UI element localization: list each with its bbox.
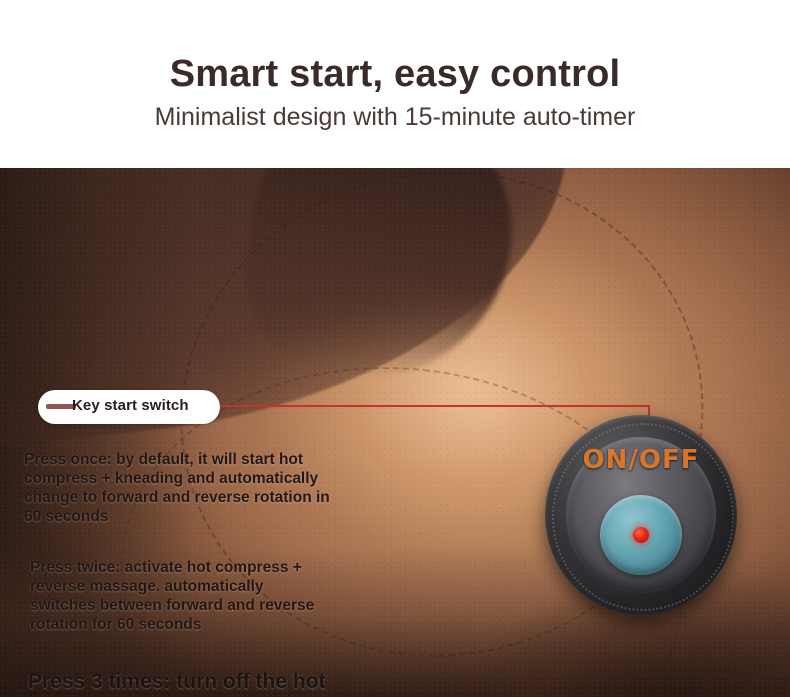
instruction-press-twice: Press twice: activate hot compress + rev… [30, 558, 330, 634]
product-infographic: Smart start, easy control Minimalist des… [0, 0, 790, 697]
product-photo: ON/OFF Key start switch Press once: by d… [0, 168, 790, 697]
callout-label: Key start switch [72, 397, 217, 414]
header-section: Smart start, easy control Minimalist des… [0, 0, 790, 168]
instruction-press-once: Press once: by default, it will start ho… [24, 450, 334, 526]
instruction-press-3-times: Press 3 times: turn off the hot compress… [28, 668, 348, 697]
power-button-group[interactable]: ON/OFF [545, 415, 745, 621]
power-indicator-led [633, 527, 649, 543]
page-subtitle: Minimalist design with 15-minute auto-ti… [0, 102, 790, 132]
callout-leader-horizontal [219, 405, 649, 407]
on-off-label: ON/OFF [545, 445, 737, 475]
page-title: Smart start, easy control [0, 52, 790, 96]
